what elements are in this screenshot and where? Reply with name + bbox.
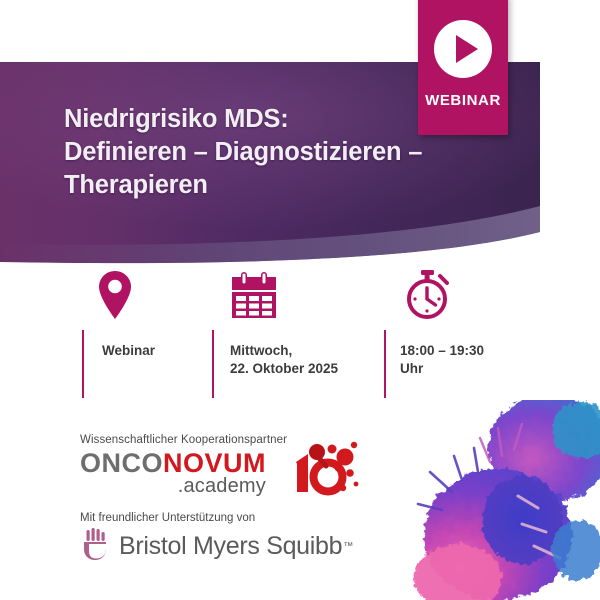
support-kicker: Mit freundlicher Unterstützung von [80,512,353,524]
detail-text-date: Mittwoch, 22. Oktober 2025 [230,342,338,378]
webinar-badge-label: WEBINAR [425,92,501,109]
webinar-poster: Niedrigrisiko MDS: Definieren – Diagnost… [0,0,600,600]
location-pin-icon [97,270,133,328]
onconovum-logo[interactable]: ONCONOVUM .academy [80,448,353,500]
sponsor-section: Wissenschaftlicher Kooperationspartner O… [80,434,353,566]
onconovum-novum: NOVUM [163,448,266,478]
detail-divider-1 [82,330,84,398]
stopwatch-icon [400,268,454,326]
title-line-1: Niedrigrisiko MDS: [64,103,464,136]
onconovum-onco: ONCO [80,448,163,478]
detail-divider-2 [212,330,214,398]
bms-trademark: ™ [343,541,353,552]
detail-time-line-1: 18:00 – 19:30 [400,342,484,360]
webinar-badge[interactable]: WEBINAR [418,0,508,135]
onconovum-wordmark: ONCONOVUM .academy [80,448,266,497]
detail-date-line-2: 22. Oktober 2025 [230,360,338,378]
onconovum-main: ONCONOVUM [80,448,266,478]
title-line-2: Definieren – Diagnostizieren – [64,136,464,169]
bristol-myers-squibb-logo[interactable]: Bristol Myers Squibb™ [80,527,353,566]
bms-mark-icon [80,527,110,566]
detail-divider-3 [384,330,386,398]
event-details: Webinar [0,268,600,398]
detail-text-time: 18:00 – 19:30 Uhr [400,342,484,378]
bms-name: Bristol Myers Squibb [119,532,342,561]
play-triangle [456,35,478,63]
play-icon[interactable] [434,20,492,78]
detail-format-line-1: Webinar [102,342,155,360]
calendar-icon [228,270,280,328]
title-line-3: Therapieren [64,169,464,202]
cancer-cell-illustration [410,400,600,600]
onconovum-anniversary-mark [292,440,364,501]
detail-date-line-1: Mittwoch, [230,342,338,360]
detail-time-line-2: Uhr [400,360,484,378]
detail-text-format: Webinar [102,342,155,360]
onconovum-academy: .academy [80,476,266,497]
page-title: Niedrigrisiko MDS: Definieren – Diagnost… [64,103,464,202]
